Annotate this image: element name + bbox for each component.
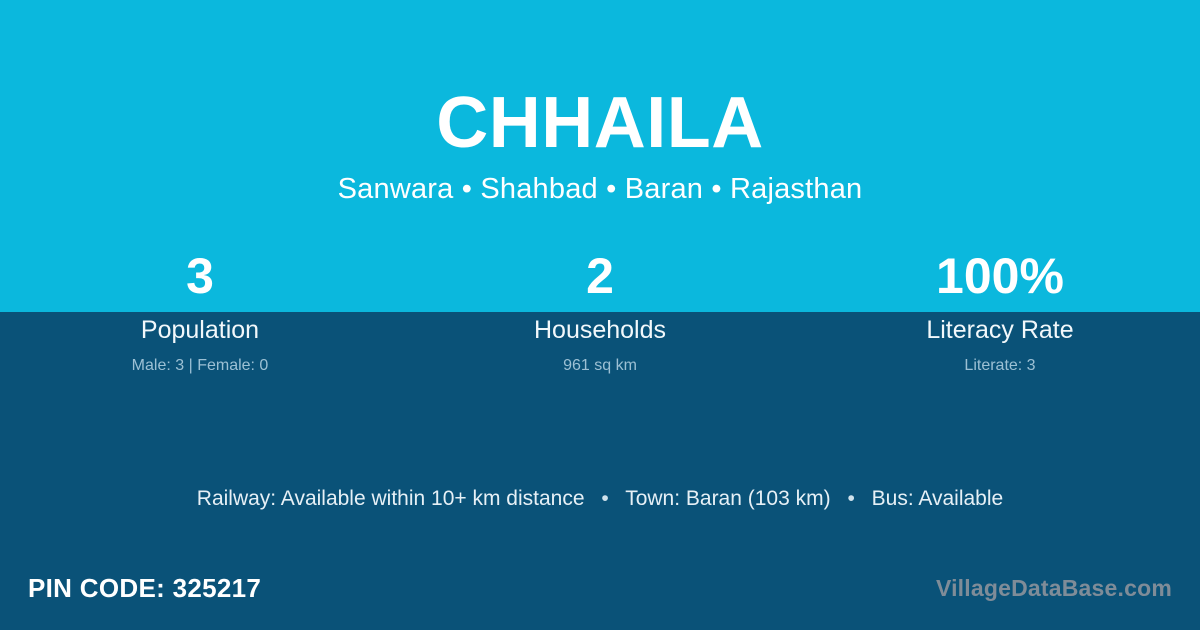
stat-population-breakdown: Male: 3 | Female: 0 [0,356,400,376]
breadcrumb-location: Sanwara • Shahbad • Baran • Rajasthan [0,171,1200,207]
amenity-separator-2: • [836,484,865,514]
stat-households-area: 961 sq km [400,356,800,376]
stat-households: 2 Households 961 sq km [400,246,800,376]
stat-literacy-rate-count: Literate: 3 [800,356,1200,376]
footer: PIN CODE: 325217 VillageDataBase.com [0,560,1200,630]
amenity-town: Town: Baran (103 km) [625,487,830,510]
stat-population-value: 3 [0,246,400,312]
amenity-railway: Railway: Available within 10+ km distanc… [197,487,585,510]
stat-population-label: Population [0,315,400,345]
stat-population: 3 Population Male: 3 | Female: 0 [0,246,400,376]
stat-literacy-rate-value: 100% [800,246,1200,312]
page-title: CHHAILA [0,83,1200,163]
stats-row: 3 Population Male: 3 | Female: 0 2 House… [0,246,1200,376]
stat-households-label: Households [400,315,800,345]
stat-households-value: 2 [400,246,800,312]
stat-literacy-rate: 100% Literacy Rate Literate: 3 [800,246,1200,376]
amenity-bus: Bus: Available [872,487,1004,510]
pin-code: PIN CODE: 325217 [28,573,261,603]
site-brand: VillageDataBase.com [936,574,1172,602]
stat-literacy-rate-label: Literacy Rate [800,315,1200,345]
header: CHHAILA Sanwara • Shahbad • Baran • Raja… [0,0,1200,207]
amenities-line: Railway: Available within 10+ km distanc… [0,484,1200,514]
amenity-separator-1: • [590,484,619,514]
village-info-card: CHHAILA Sanwara • Shahbad • Baran • Raja… [0,0,1200,630]
